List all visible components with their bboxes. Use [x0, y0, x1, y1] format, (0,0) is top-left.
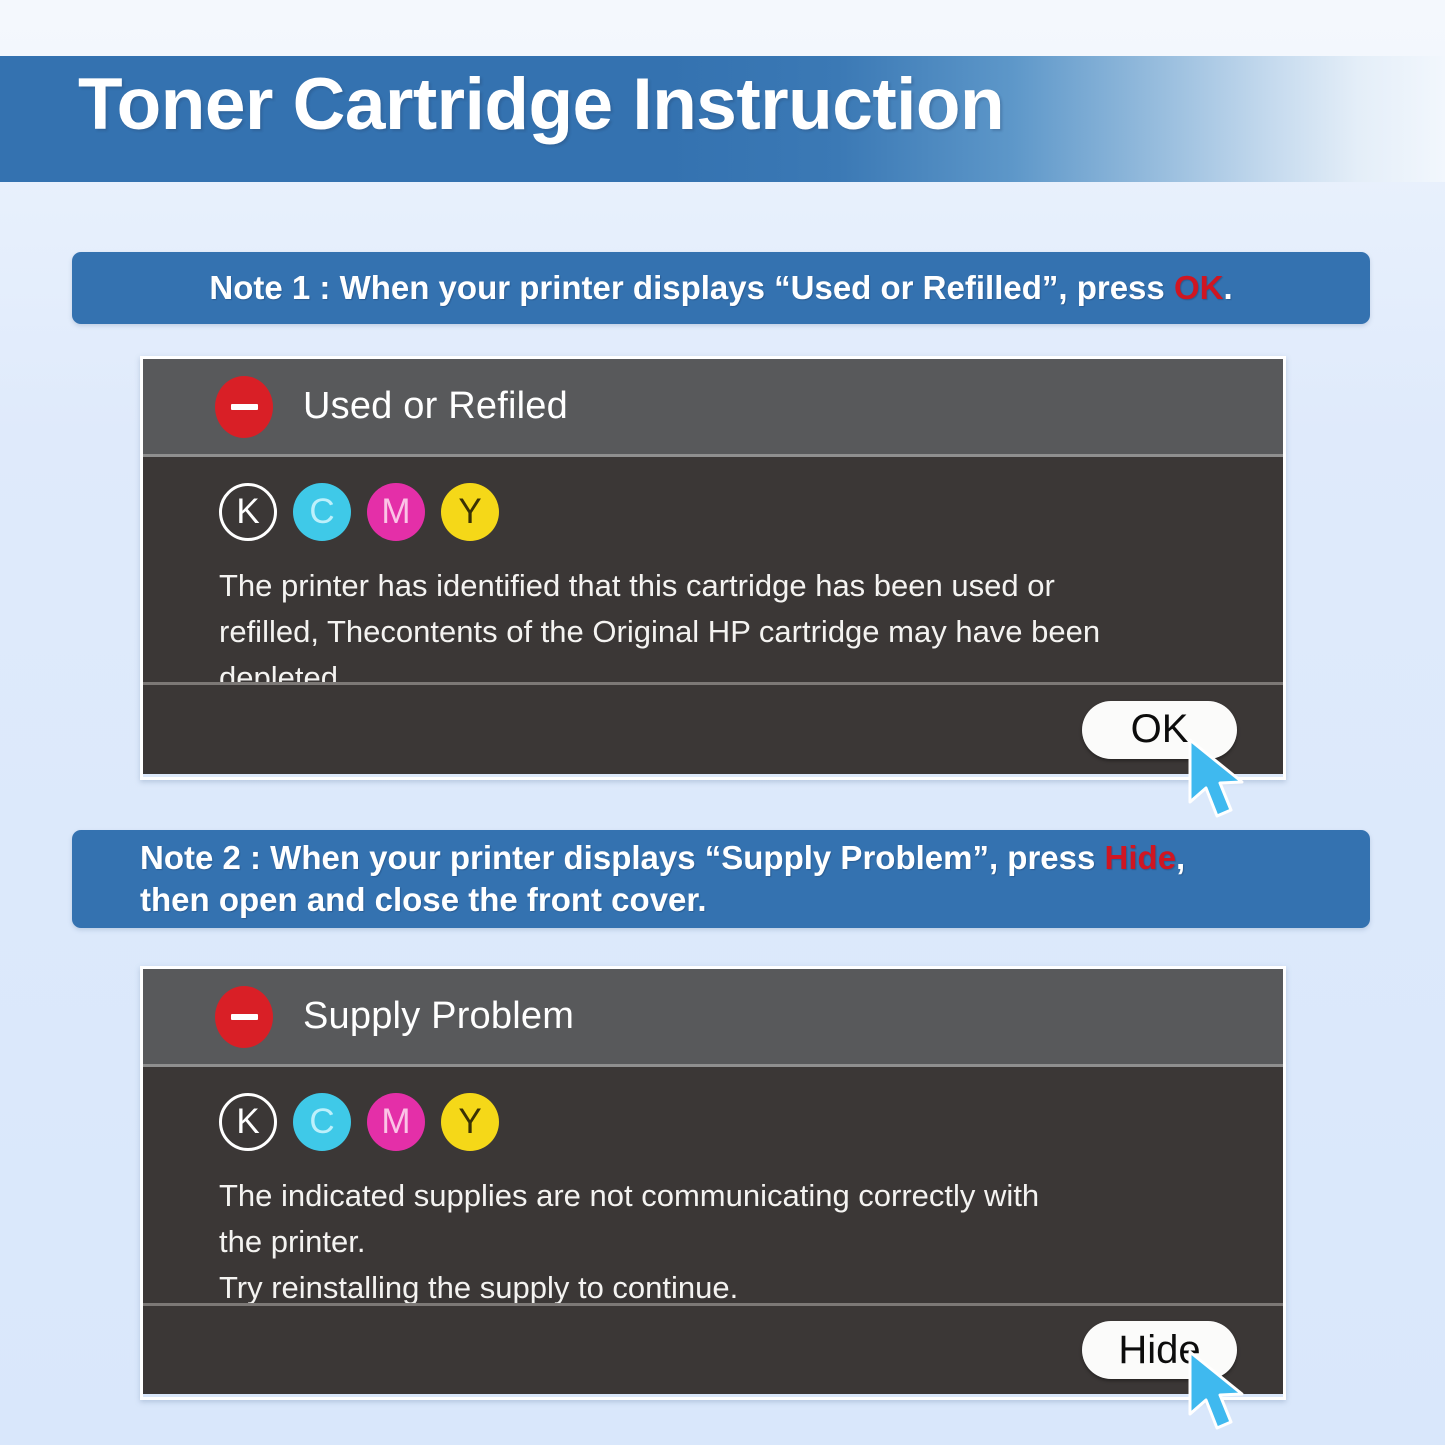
toner-badge-magenta[interactable]: M [367, 483, 425, 541]
dialog-2-title: Supply Problem [303, 995, 574, 1038]
printer-dialog-used-or-refiled: Used or Refiled K C M Y The printer has … [140, 356, 1286, 780]
note-2-second-line: then open and close the front cover. [140, 881, 707, 918]
note-2-text: Note 2 : When your printer displays “Sup… [140, 837, 1185, 921]
dialog-2-message-line: The indicated supplies are not communica… [219, 1173, 1179, 1219]
error-minus-icon [215, 376, 273, 438]
note-1-banner: Note 1 : When your printer displays “Use… [72, 252, 1370, 324]
note-2-banner: Note 2 : When your printer displays “Sup… [72, 830, 1370, 928]
dialog-1-title: Used or Refiled [303, 385, 568, 428]
note-1-highlight: OK [1174, 269, 1224, 306]
toner-badge-black[interactable]: K [219, 1093, 277, 1151]
error-minus-icon [215, 986, 273, 1048]
dialog-1-footer: OK [143, 682, 1283, 774]
toner-badge-black[interactable]: K [219, 483, 277, 541]
printer-dialog-supply-problem: Supply Problem K C M Y The indicated sup… [140, 966, 1286, 1400]
note-2-highlight: Hide [1105, 839, 1177, 876]
dialog-1-color-badges: K C M Y [219, 483, 1283, 541]
error-minus-icon-bar [231, 404, 258, 410]
page-background: Toner Cartridge Instruction Note 1 : Whe… [0, 0, 1445, 1445]
dialog-1-message: The printer has identified that this car… [219, 563, 1179, 701]
toner-badge-cyan[interactable]: C [293, 1093, 351, 1151]
error-minus-icon-bar [231, 1014, 258, 1020]
note-1-prefix: Note 1 : When your printer displays “Use… [209, 269, 1174, 306]
note-2-prefix: Note 2 : When your printer displays “Sup… [140, 839, 1105, 876]
dialog-1-message-line: The printer has identified that this car… [219, 563, 1179, 609]
ok-button[interactable]: OK [1082, 701, 1237, 759]
note-1-text: Note 1 : When your printer displays “Use… [209, 267, 1232, 309]
dialog-2-footer: Hide [143, 1303, 1283, 1394]
dialog-2-titlebar: Supply Problem [143, 969, 1283, 1067]
page-title: Toner Cartridge Instruction [78, 68, 1004, 141]
note-1-suffix: . [1223, 269, 1232, 306]
toner-badge-yellow[interactable]: Y [441, 1093, 499, 1151]
dialog-1-message-line: refilled, Thecontents of the Original HP… [219, 609, 1179, 655]
dialog-2-body: K C M Y The indicated supplies are not c… [143, 1067, 1283, 1303]
dialog-1-body: K C M Y The printer has identified that … [143, 457, 1283, 682]
note-2-suffix: , [1176, 839, 1185, 876]
toner-badge-magenta[interactable]: M [367, 1093, 425, 1151]
toner-badge-cyan[interactable]: C [293, 483, 351, 541]
hide-button[interactable]: Hide [1082, 1321, 1237, 1379]
dialog-2-message: The indicated supplies are not communica… [219, 1173, 1179, 1311]
dialog-1-titlebar: Used or Refiled [143, 359, 1283, 457]
toner-badge-yellow[interactable]: Y [441, 483, 499, 541]
dialog-2-color-badges: K C M Y [219, 1093, 1283, 1151]
dialog-2-message-line: the printer. [219, 1219, 1179, 1265]
